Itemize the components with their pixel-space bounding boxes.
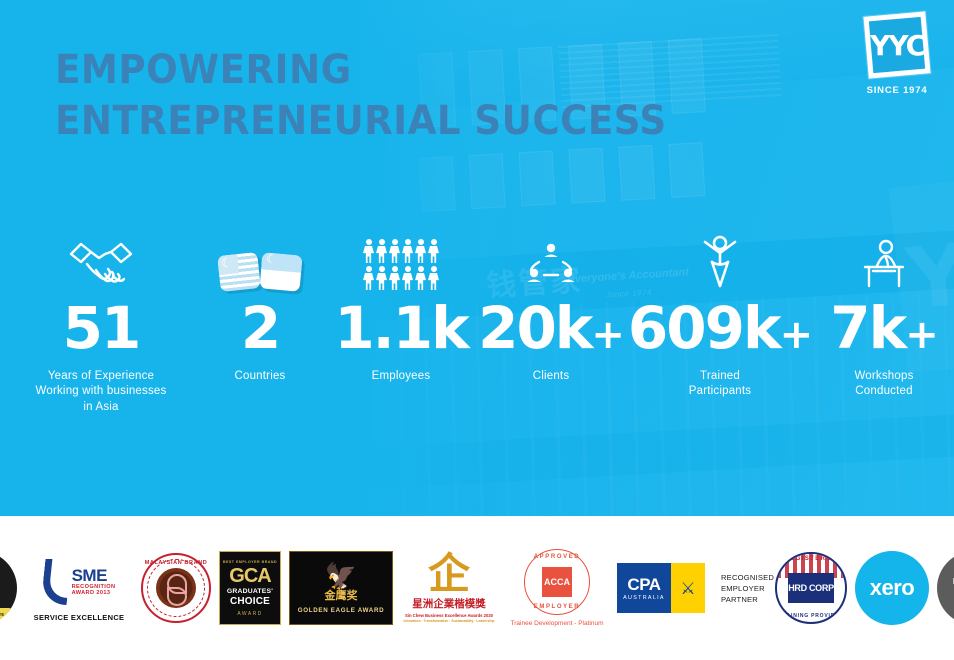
stat-label: Countries xyxy=(194,369,326,385)
badge-title-english: Sin Chew Business Excellence Awards 2020 xyxy=(401,613,497,618)
stat-number: 609k xyxy=(628,294,780,362)
yyc-logo[interactable]: YYC SINCE 1974 xyxy=(854,14,940,96)
badge-sme-recognition-award: SME RECOGNITION AWARD 2013 SERVICE EXCEL… xyxy=(25,554,133,622)
stat-plus: + xyxy=(905,312,938,358)
stat-label: Years of Experience Working with busines… xyxy=(8,369,194,416)
badge-graduates-choice-award: BEST EMPLOYER BRAND GCA GRADUATES' CHOIC… xyxy=(219,551,281,625)
acca-seal: APPROVED ACCA EMPLOYER xyxy=(524,549,590,615)
hrd-mark: HRD CORP xyxy=(788,573,834,603)
hero-panel: 钱管家 Everyone's Accountant Since 1974 YYC… xyxy=(0,0,954,516)
stat-clients: 20k+ Clients xyxy=(476,226,626,384)
badge-malaysian-brand: MALAYSIAN BRAND xyxy=(141,553,211,623)
badge-caption: RECOGNISED EMPLOYER PARTNER xyxy=(721,572,774,605)
stat-plus: + xyxy=(780,312,813,358)
people-grid xyxy=(363,239,439,290)
stat-label: Workshops Conducted xyxy=(814,369,954,400)
badge-title-chinese: 金鹰奖 xyxy=(325,587,358,603)
acca-mark: ACCA xyxy=(542,567,572,597)
badge-golden-eagle-award: 🦅 金鹰奖 GOLDEN EAGLE AWARD xyxy=(289,551,393,625)
badge-subtitle-2: AWARD 2013 xyxy=(72,591,116,597)
badge-title-english: GOLDEN EAGLE AWARD xyxy=(298,607,385,614)
badge-line-3: AWARD xyxy=(237,611,262,617)
stat-value: 609k+ xyxy=(626,300,814,357)
trained-person-icon xyxy=(626,226,814,290)
stat-number: 2 xyxy=(241,294,279,362)
crest-icon: ⚔ xyxy=(680,580,695,597)
stat-number: 1.1k xyxy=(334,294,467,362)
malaysia-flag-icon xyxy=(217,252,261,292)
stat-label: Trained Participants xyxy=(626,369,814,400)
flags-icon xyxy=(194,226,326,290)
badge-platinum-partner: PLATINUM PARTNER xyxy=(937,551,954,625)
headline-line-1: EMPOWERING xyxy=(55,47,352,93)
badge-line-1: GRADUATES' xyxy=(227,588,273,595)
sme-text: SME RECOGNITION AWARD 2013 xyxy=(72,567,116,597)
badge-line-2: CHOICE xyxy=(230,597,270,607)
stat-label: Clients xyxy=(476,369,626,385)
stat-value: 20k+ xyxy=(476,300,626,357)
stat-trained-participants: 609k+ Trained Participants xyxy=(626,226,814,400)
cpa-title: CPA xyxy=(627,576,660,593)
badge-title: GCA xyxy=(229,566,270,586)
stat-countries: 2 Countries xyxy=(194,226,326,384)
stat-number: 7k xyxy=(830,294,905,362)
swoosh-icon xyxy=(40,559,71,605)
stat-workshops-conducted: 7k+ Workshops Conducted xyxy=(814,226,954,400)
handshake-icon xyxy=(8,226,194,290)
badge-word-bottom: TRAINING PROVIDER xyxy=(777,613,845,619)
stat-employees: 1.1k Employees xyxy=(326,226,476,384)
people-group-icon xyxy=(326,226,476,290)
seal-ring: MALAYSIAN BRAND xyxy=(141,553,211,623)
brand-glyph-icon xyxy=(156,568,196,608)
stat-value: 51 xyxy=(8,300,194,357)
badge-word-top: REGISTERED xyxy=(777,556,845,562)
stat-value: 1.1k xyxy=(326,300,476,357)
badge-cpa-australia: CPA AUSTRALIA ⚔ RECOGNISED EMPLOYER PART… xyxy=(617,563,767,613)
badge-acca-approved-employer: APPROVED ACCA EMPLOYER Trainee Developme… xyxy=(505,549,609,627)
badge-sin-chew-business-excellence: 企 星洲企業楷模獎 Sin Chew Business Excellence A… xyxy=(401,553,497,623)
yyc-logo-mark: YYC xyxy=(863,11,930,78)
singapore-flag-icon xyxy=(260,252,303,291)
cpa-subtitle: AUSTRALIA xyxy=(623,595,665,601)
eagle-icon: 🦅 xyxy=(325,563,357,589)
badge-word-bottom: EMPLOYER xyxy=(525,604,589,610)
badge-ribbon: THE BRAND LAUREATE xyxy=(0,608,11,621)
stat-label: Employees xyxy=(326,369,476,385)
badge-hrd-corp-registered-training-provider: REGISTERED HRD CORP TRAINING PROVIDER xyxy=(775,552,847,624)
qi-character-icon: 企 xyxy=(401,553,497,595)
stat-number: 20k xyxy=(478,294,591,362)
yyc-logo-text: YYC xyxy=(870,28,924,61)
badge-subtitle: Innovation · Transformation · Sustainabi… xyxy=(401,619,497,623)
platinum-partner-label: PLATINUM PARTNER xyxy=(937,551,954,625)
stat-value: 2 xyxy=(194,300,326,357)
awards-footer: SMEs BestBrands Asia 2012 THE BRAND LAUR… xyxy=(0,516,954,660)
cpa-crest-panel: ⚔ xyxy=(671,563,705,613)
badge-eyebrow: BEST EMPLOYER BRAND xyxy=(223,560,277,564)
workshop-presenter-icon xyxy=(814,226,954,290)
cpa-mark: CPA AUSTRALIA ⚔ xyxy=(617,563,705,613)
stat-number: 51 xyxy=(63,294,140,362)
xero-logo: xero xyxy=(855,551,929,625)
badge-title: MALAYSIAN BRAND xyxy=(143,560,209,566)
badge-title-chinese: 星洲企業楷模獎 xyxy=(401,596,497,611)
badge-word-top: APPROVED xyxy=(525,554,589,560)
cpa-wordmark: CPA AUSTRALIA xyxy=(617,563,671,613)
badge-xero: xero xyxy=(855,551,929,625)
stat-plus: + xyxy=(591,312,624,358)
infographic-page: 钱管家 Everyone's Accountant Since 1974 YYC… xyxy=(0,0,954,660)
stat-years-of-experience: 51 Years of Experience Working with busi… xyxy=(8,226,194,415)
badge-caption: Trainee Development - Platinum xyxy=(505,620,609,627)
badge-caption: SERVICE EXCELLENCE xyxy=(25,613,133,622)
yyc-logo-since: SINCE 1974 xyxy=(854,85,940,96)
laurel-wreath-icon: SMEs BestBrands Asia 2012 THE BRAND LAUR… xyxy=(0,551,17,625)
stats-row: 51 Years of Experience Working with busi… xyxy=(0,226,954,415)
sme-mark: SME RECOGNITION AWARD 2013 xyxy=(25,554,133,610)
page-title: EMPOWERING ENTREPRENEURIAL SUCCESS xyxy=(55,45,667,147)
stat-value: 7k+ xyxy=(814,300,954,357)
headline-line-2: ENTREPRENEURIAL SUCCESS xyxy=(55,96,667,147)
badge-title: SME xyxy=(72,567,116,585)
badge-smes-best-brands: SMEs BestBrands Asia 2012 THE BRAND LAUR… xyxy=(0,551,17,625)
client-network-icon xyxy=(476,226,626,290)
hrd-seal: REGISTERED HRD CORP TRAINING PROVIDER xyxy=(775,552,847,624)
